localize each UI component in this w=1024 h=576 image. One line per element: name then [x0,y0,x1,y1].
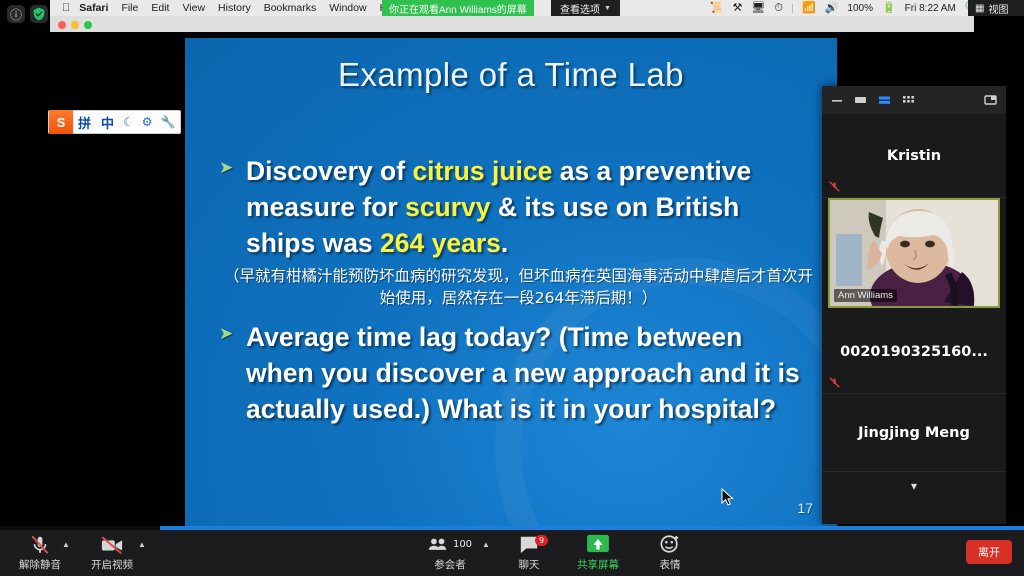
menu-item-view[interactable]: View [182,2,205,14]
view-options-button[interactable]: 查看选项 ▼ [551,0,620,16]
participants-icon: 100 [418,534,482,556]
popout-panel-button[interactable] [984,94,997,106]
menu-item-safari[interactable]: Safari [79,2,108,14]
zoom-bottom-toolbar: 解除静音 ▲ 开启视频 ▲ 100 参会者 [0,530,1024,576]
active-speaker-view-button[interactable] [854,94,867,106]
slide-bullet-list: ➤ Discovery of citrus juice as a prevent… [219,153,815,431]
gallery-view-button[interactable] [902,94,915,106]
battery-percent: 100% [847,3,873,14]
zoom-meeting-badges: ⓘ [0,0,50,30]
slide-page-number: 17 [797,500,813,516]
chat-icon [497,534,561,556]
highlighted-text: 264 years [380,228,501,258]
participant-name: 0020190325160... [840,344,988,360]
bullet-arrow-icon: ➤ [219,319,246,427]
zoom-participant-panel: Kristin [822,86,1006,524]
minimize-window-button[interactable] [71,21,79,29]
screen-share-banner-text: 你正在观看Ann Williams的屏幕 [389,1,527,16]
sogou-logo-icon[interactable]: S [49,110,73,134]
menu-item-edit[interactable]: Edit [151,2,169,14]
clock: Fri 8:22 AM [905,3,956,14]
audio-options-chevron-icon[interactable]: ▲ [62,540,70,549]
menu-item-history[interactable]: History [218,2,251,14]
participants-count: 100 [453,539,472,550]
leave-meeting-button[interactable]: 离开 [966,540,1012,564]
reactions-smiley-icon [638,534,702,556]
powerpoint-slide[interactable]: Example of a Time Lab ➤ Discovery of cit… [185,38,837,530]
encryption-shield-icon[interactable] [30,5,48,23]
menu-item-window[interactable]: Window [329,2,366,14]
macos-menu-bar:  Safari File Edit View History Bookmark… [50,0,1024,16]
mouse-cursor-icon [721,488,734,507]
close-window-button[interactable] [58,21,66,29]
battery-icon[interactable]: 🔋 [882,3,896,14]
share-screen-icon [566,534,630,556]
maximize-window-button[interactable] [84,21,92,29]
mic-muted-icon [829,181,840,192]
ime-chinese-mode[interactable]: 中 [96,113,119,132]
bullet-segment: Discovery of [246,156,412,186]
bullet-text-1: Discovery of citrus juice as a preventiv… [246,153,815,261]
wifi-icon[interactable]: 📶 [802,3,816,14]
participant-tile-jingjing-meng[interactable]: Jingjing Meng [822,394,1006,472]
participants-button[interactable]: 100 参会者 [418,534,482,572]
unmute-label: 解除静音 [8,557,72,572]
reactions-label: 表情 [638,557,702,572]
bullet-segment: . [501,228,508,258]
grid-view-icon: ▦ [975,3,984,14]
menu-item-bookmarks[interactable]: Bookmarks [264,2,317,14]
minimize-panel-button[interactable] [831,94,843,106]
participant-tile-kristin[interactable]: Kristin [822,114,1006,198]
keyboard-icon[interactable]: ⚙ [138,115,157,129]
share-screen-label: 共享屏幕 [566,557,630,572]
chat-unread-badge: 9 [535,535,548,546]
scroll-down-participants-button[interactable]: ▾ [822,472,1006,500]
video-muted-icon [80,534,144,556]
participant-name: Jingjing Meng [858,425,970,441]
airplay-icon[interactable]: 🖥 [751,3,765,14]
sogou-ime-toolbar[interactable]: S 拼 中 ☾ ⚙ 🔧 [48,110,181,134]
highlighted-text: scurvy [405,192,490,222]
leave-meeting-label: 离开 [978,546,1000,559]
dropbox-icon[interactable]: ⚒ [733,3,743,14]
chevron-down-icon: ▼ [604,5,611,12]
view-options-label: 查看选项 [560,1,600,16]
participants-chevron-icon[interactable]: ▲ [482,540,490,549]
chat-button[interactable]: 9 聊天 [497,534,561,572]
screen-share-banner: 你正在观看Ann Williams的屏幕 [382,0,534,16]
menu-divider [792,4,793,13]
participants-label: 参会者 [418,557,482,572]
gallery-strip-view-button[interactable] [878,94,891,106]
meeting-info-icon[interactable]: ⓘ [7,5,25,23]
menu-item-file[interactable]: File [121,2,138,14]
ime-pinyin-mode[interactable]: 拼 [73,113,96,132]
zoom-panel-toolbar [822,86,1006,114]
bullet-note-1: （早就有柑橘汁能预防坏血病的研究发现，但坏血病在英国海事活动中肆虐后才首次开始使… [222,265,815,309]
video-options-chevron-icon[interactable]: ▲ [138,540,146,549]
participant-name: Kristin [887,148,941,164]
participant-tile-phone-user[interactable]: 0020190325160... [822,310,1006,394]
bullet-text-2: Average time lag today? (Time between wh… [246,319,815,427]
start-video-label: 开启视频 [80,557,144,572]
browser-titlebar [50,16,974,32]
wrench-icon[interactable]: 🔧 [157,115,180,129]
start-video-button[interactable]: 开启视频 [80,534,144,572]
mic-muted-icon [829,377,840,388]
apple-logo-icon[interactable]:  [62,3,70,14]
list-item: ➤ Average time lag today? (Time between … [219,319,815,427]
grammarly-icon[interactable]: 📜 [710,3,724,14]
highlighted-text: citrus juice [412,156,552,186]
reactions-button[interactable]: 表情 [638,534,702,572]
slide-title: Example of a Time Lab [185,56,837,94]
volume-icon[interactable]: 🔊 [825,3,839,14]
moon-icon[interactable]: ☾ [119,115,138,129]
participant-tile-ann-williams[interactable]: Ann Williams [828,198,1000,308]
share-screen-button[interactable]: 共享屏幕 [566,534,630,572]
view-layout-label: 视图 [988,1,1008,16]
time-machine-icon[interactable]: ⏱ [774,3,783,14]
list-item: ➤ Discovery of citrus juice as a prevent… [219,153,815,261]
bullet-arrow-icon: ➤ [219,153,246,261]
chat-label: 聊天 [497,557,561,572]
view-layout-button[interactable]: ▦ 视图 [968,0,1024,16]
participant-name: Ann Williams [834,289,897,302]
